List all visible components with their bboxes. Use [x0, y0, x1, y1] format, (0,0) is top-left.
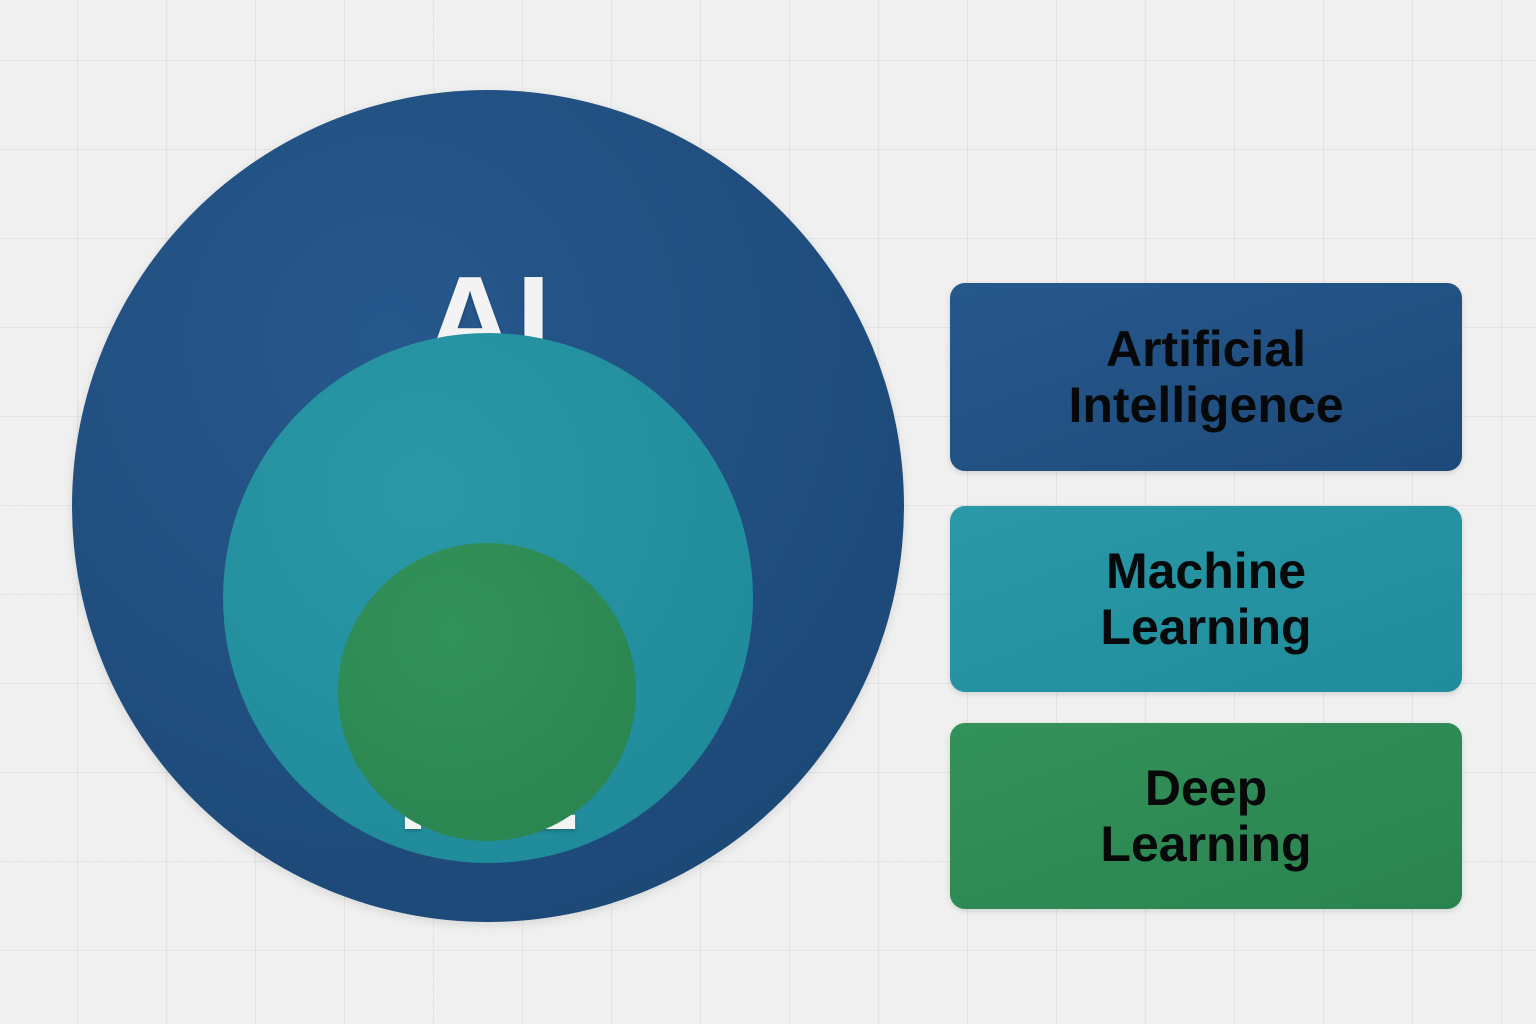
legend-label-ai-line2: Intelligence — [1068, 377, 1343, 433]
legend-item-deep-learning[interactable]: Deep Learning — [950, 723, 1462, 909]
legend-label-dl-line2: Learning — [1100, 816, 1311, 872]
legend-label-dl-line1: Deep — [1145, 760, 1267, 816]
diagram-canvas: AI ML DL Artificial Intelligence Machine… — [0, 0, 1536, 1024]
legend-label-ai-line1: Artificial — [1106, 321, 1306, 377]
legend-item-artificial-intelligence[interactable]: Artificial Intelligence — [950, 283, 1462, 471]
legend: Artificial Intelligence Machine Learning… — [950, 283, 1462, 909]
circle-deep-learning[interactable]: DL — [338, 543, 636, 841]
legend-label-ml-line2: Learning — [1100, 599, 1311, 655]
nested-circles-group: AI ML DL — [0, 0, 960, 1024]
legend-item-machine-learning[interactable]: Machine Learning — [950, 506, 1462, 692]
legend-label-ml-line1: Machine — [1106, 543, 1306, 599]
